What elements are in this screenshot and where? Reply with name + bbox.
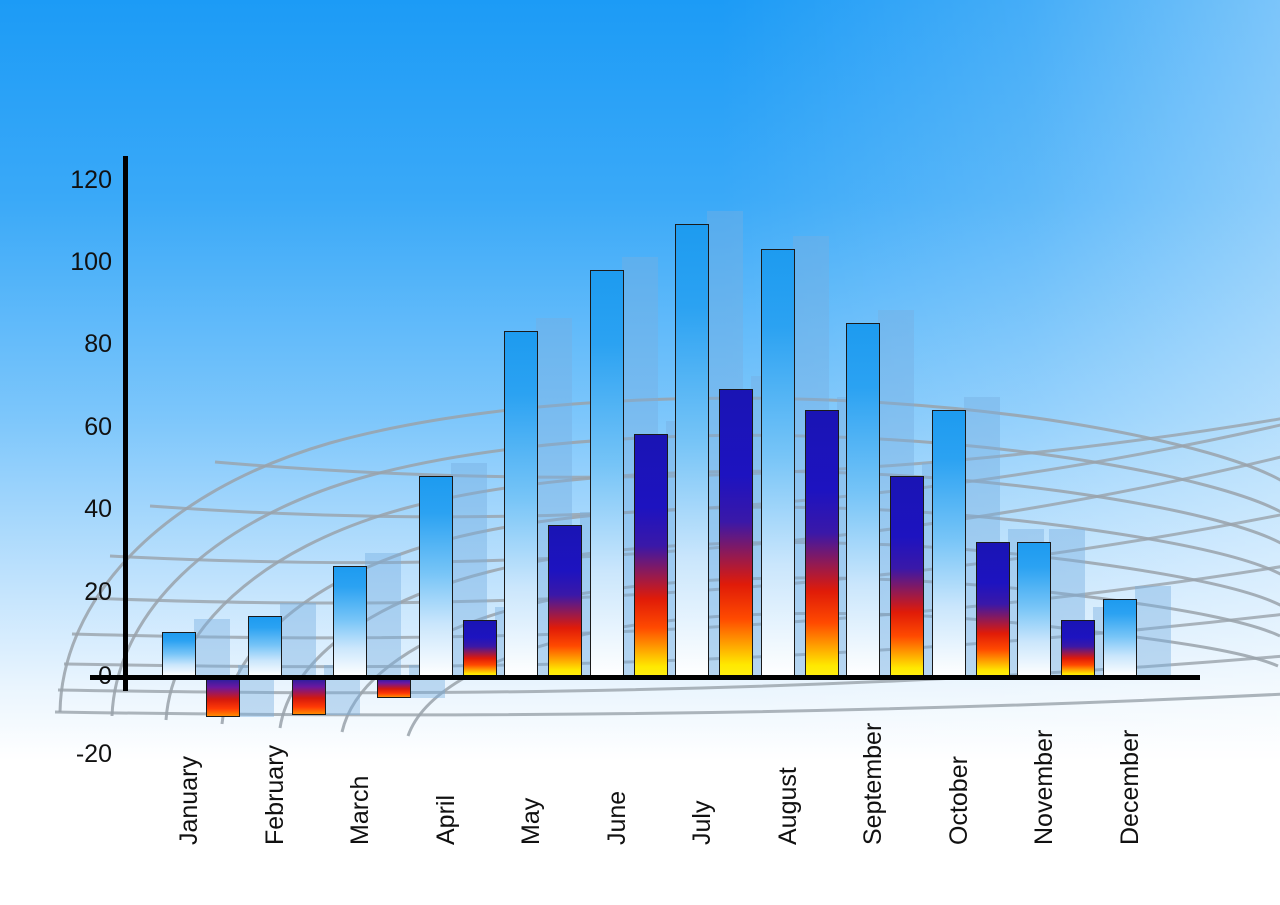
x-label-march: March bbox=[346, 776, 375, 845]
x-label-august: August bbox=[774, 767, 803, 845]
x-label-november: November bbox=[1030, 730, 1059, 845]
x-axis-labels: JanuaryFebruaryMarchAprilMayJuneJulyAugu… bbox=[0, 0, 1280, 905]
x-label-october: October bbox=[945, 756, 974, 845]
x-label-february: February bbox=[261, 745, 290, 845]
x-label-july: July bbox=[688, 801, 717, 845]
x-label-december: December bbox=[1116, 730, 1145, 845]
x-label-may: May bbox=[517, 798, 546, 845]
chart-canvas: 120 100 80 60 40 20 0 -20 JanuaryFebruar… bbox=[0, 0, 1280, 905]
x-label-september: September bbox=[859, 723, 888, 845]
x-label-april: April bbox=[432, 795, 461, 845]
x-label-january: January bbox=[175, 756, 204, 845]
x-label-june: June bbox=[603, 791, 632, 845]
